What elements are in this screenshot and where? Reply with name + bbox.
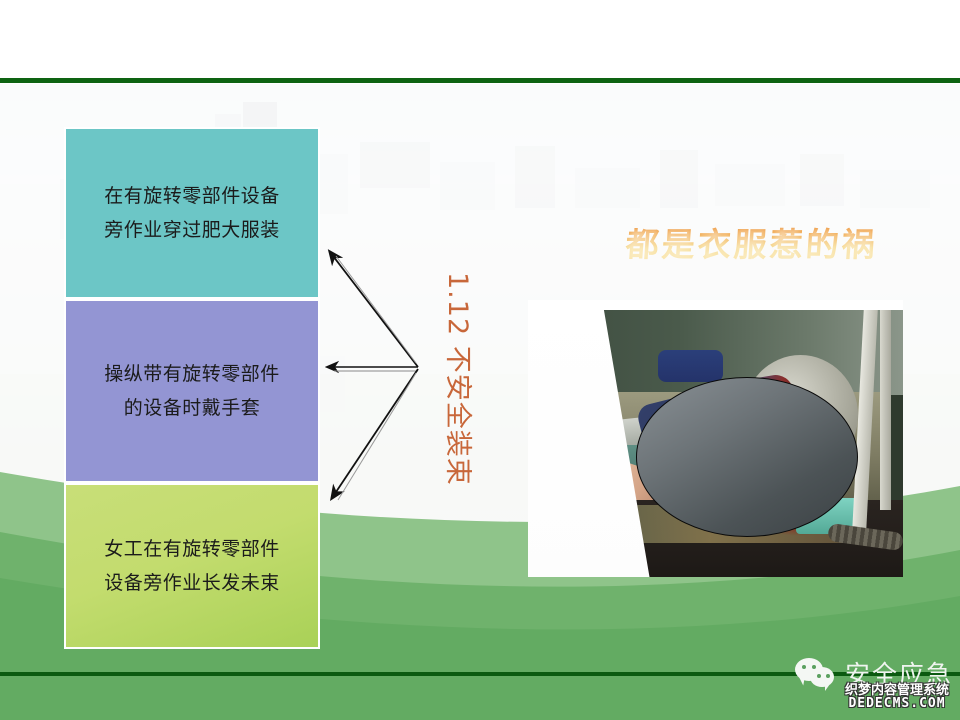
hazard-text-line: 操纵带有旋转零部件 (104, 357, 280, 391)
censor-ellipse-overlay (636, 377, 858, 537)
accident-photo[interactable] (528, 300, 903, 577)
hazard-text-line: 的设备时戴手套 (124, 391, 261, 425)
hazard-text-line: 女工在有旋转零部件 (104, 532, 280, 566)
hazard-text-line: 旁作业穿过肥大服装 (104, 213, 280, 247)
top-divider-rule (0, 78, 960, 83)
section-title-vertical: 1.12 不安全装束 (438, 272, 476, 316)
slide-canvas: 在有旋转零部件设备 旁作业穿过肥大服装 操纵带有旋转零部件 的设备时戴手套 女工… (0, 0, 960, 720)
connector-arrows (320, 230, 440, 520)
hazard-text-line: 在有旋转零部件设备 (104, 179, 280, 213)
headline-text: 都是衣服惹的祸 (624, 218, 879, 266)
hazard-box-list: 在有旋转零部件设备 旁作业穿过肥大服装 操纵带有旋转零部件 的设备时戴手套 女工… (64, 127, 320, 649)
hazard-box-gloves[interactable]: 操纵带有旋转零部件 的设备时戴手套 (64, 299, 320, 483)
hazard-box-loose-clothing[interactable]: 在有旋转零部件设备 旁作业穿过肥大服装 (64, 127, 320, 299)
section-title-text: 1.12 不安全装束 (438, 272, 476, 486)
wechat-icon (795, 658, 837, 688)
hazard-text-line: 设备旁作业长发未束 (104, 566, 280, 600)
dedecms-watermark: 织梦内容管理系统 DEDECMS.COM (845, 684, 949, 710)
hazard-box-long-hair[interactable]: 女工在有旋转零部件 设备旁作业长发未束 (64, 483, 320, 649)
dedecms-en-text: DEDECMS.COM (845, 697, 949, 710)
